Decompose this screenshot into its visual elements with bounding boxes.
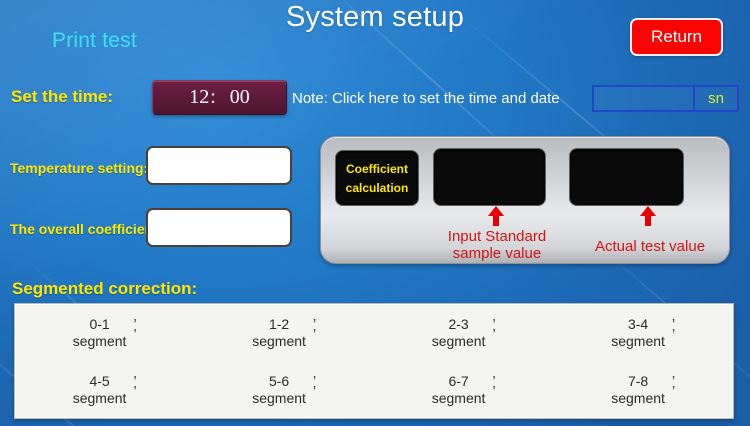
overall-coefficient-input[interactable]	[146, 208, 292, 247]
segment-mark-icon: ’’	[492, 380, 495, 400]
return-button-label: Return	[651, 27, 702, 47]
segment-cell[interactable]: 5-6 segment ’’	[195, 373, 375, 407]
overall-coefficient-label: The overall coefficient:	[10, 221, 162, 237]
segment-label: 7-8 segment	[611, 373, 665, 407]
segment-mark-icon: ’’	[672, 323, 675, 343]
sn-unit-label: sn	[695, 87, 737, 110]
segment-cell[interactable]: 6-7 segment ’’	[374, 373, 554, 407]
segmented-correction-heading: Segmented correction:	[12, 279, 197, 299]
time-minutes: 00	[230, 86, 250, 109]
segment-label: 3-4 segment	[611, 316, 665, 350]
actual-test-value-input[interactable]	[569, 148, 684, 206]
return-button[interactable]: Return	[630, 18, 723, 56]
coefficient-calculation-label-line2: calculation	[346, 182, 409, 194]
standard-sample-value-input[interactable]	[433, 148, 546, 206]
set-time-label: Set the time:	[11, 87, 113, 107]
segment-mark-icon: ’’	[133, 323, 136, 343]
time-display[interactable]: 12 00	[152, 80, 287, 115]
segment-mark-icon: ’’	[313, 323, 316, 343]
temperature-setting-input[interactable]	[146, 146, 292, 185]
segment-mark-icon: ’’	[133, 380, 136, 400]
segment-label: 4-5 segment	[73, 373, 127, 407]
coefficient-calculation-label-line1: Coefficient	[346, 163, 408, 175]
time-note-text: Note: Click here to set the time and dat…	[292, 90, 560, 107]
sn-input[interactable]	[594, 87, 695, 110]
temperature-setting-label: Temperature setting:	[10, 160, 148, 176]
segment-mark-icon: ’’	[313, 380, 316, 400]
segment-label: 0-1 segment	[73, 316, 127, 350]
segment-label: 6-7 segment	[432, 373, 486, 407]
segment-cell[interactable]: 1-2 segment ’’	[195, 316, 375, 350]
actual-test-caption: Actual test value	[585, 238, 715, 255]
segment-label: 1-2 segment	[252, 316, 306, 350]
segment-label: 2-3 segment	[432, 316, 486, 350]
print-test-link[interactable]: Print test	[52, 29, 137, 53]
sn-field-group: sn	[592, 85, 739, 112]
coefficient-calculation-button[interactable]: Coefficient calculation	[335, 150, 419, 206]
segment-cell[interactable]: 0-1 segment ’’	[15, 316, 195, 350]
segment-label: 5-6 segment	[252, 373, 306, 407]
standard-sample-caption: Input Standard sample value	[432, 228, 562, 262]
segmented-correction-panel: 0-1 segment ’’ 1-2 segment ’’ 2-3 segmen…	[14, 303, 734, 419]
segment-cell[interactable]: 3-4 segment ’’	[554, 316, 734, 350]
segment-mark-icon: ’’	[672, 380, 675, 400]
segment-cell[interactable]: 4-5 segment ’’	[15, 373, 195, 407]
segment-cell[interactable]: 2-3 segment ’’	[374, 316, 554, 350]
segment-mark-icon: ’’	[492, 323, 495, 343]
segment-cell[interactable]: 7-8 segment ’’	[554, 373, 734, 407]
time-hours: 12	[189, 86, 216, 109]
